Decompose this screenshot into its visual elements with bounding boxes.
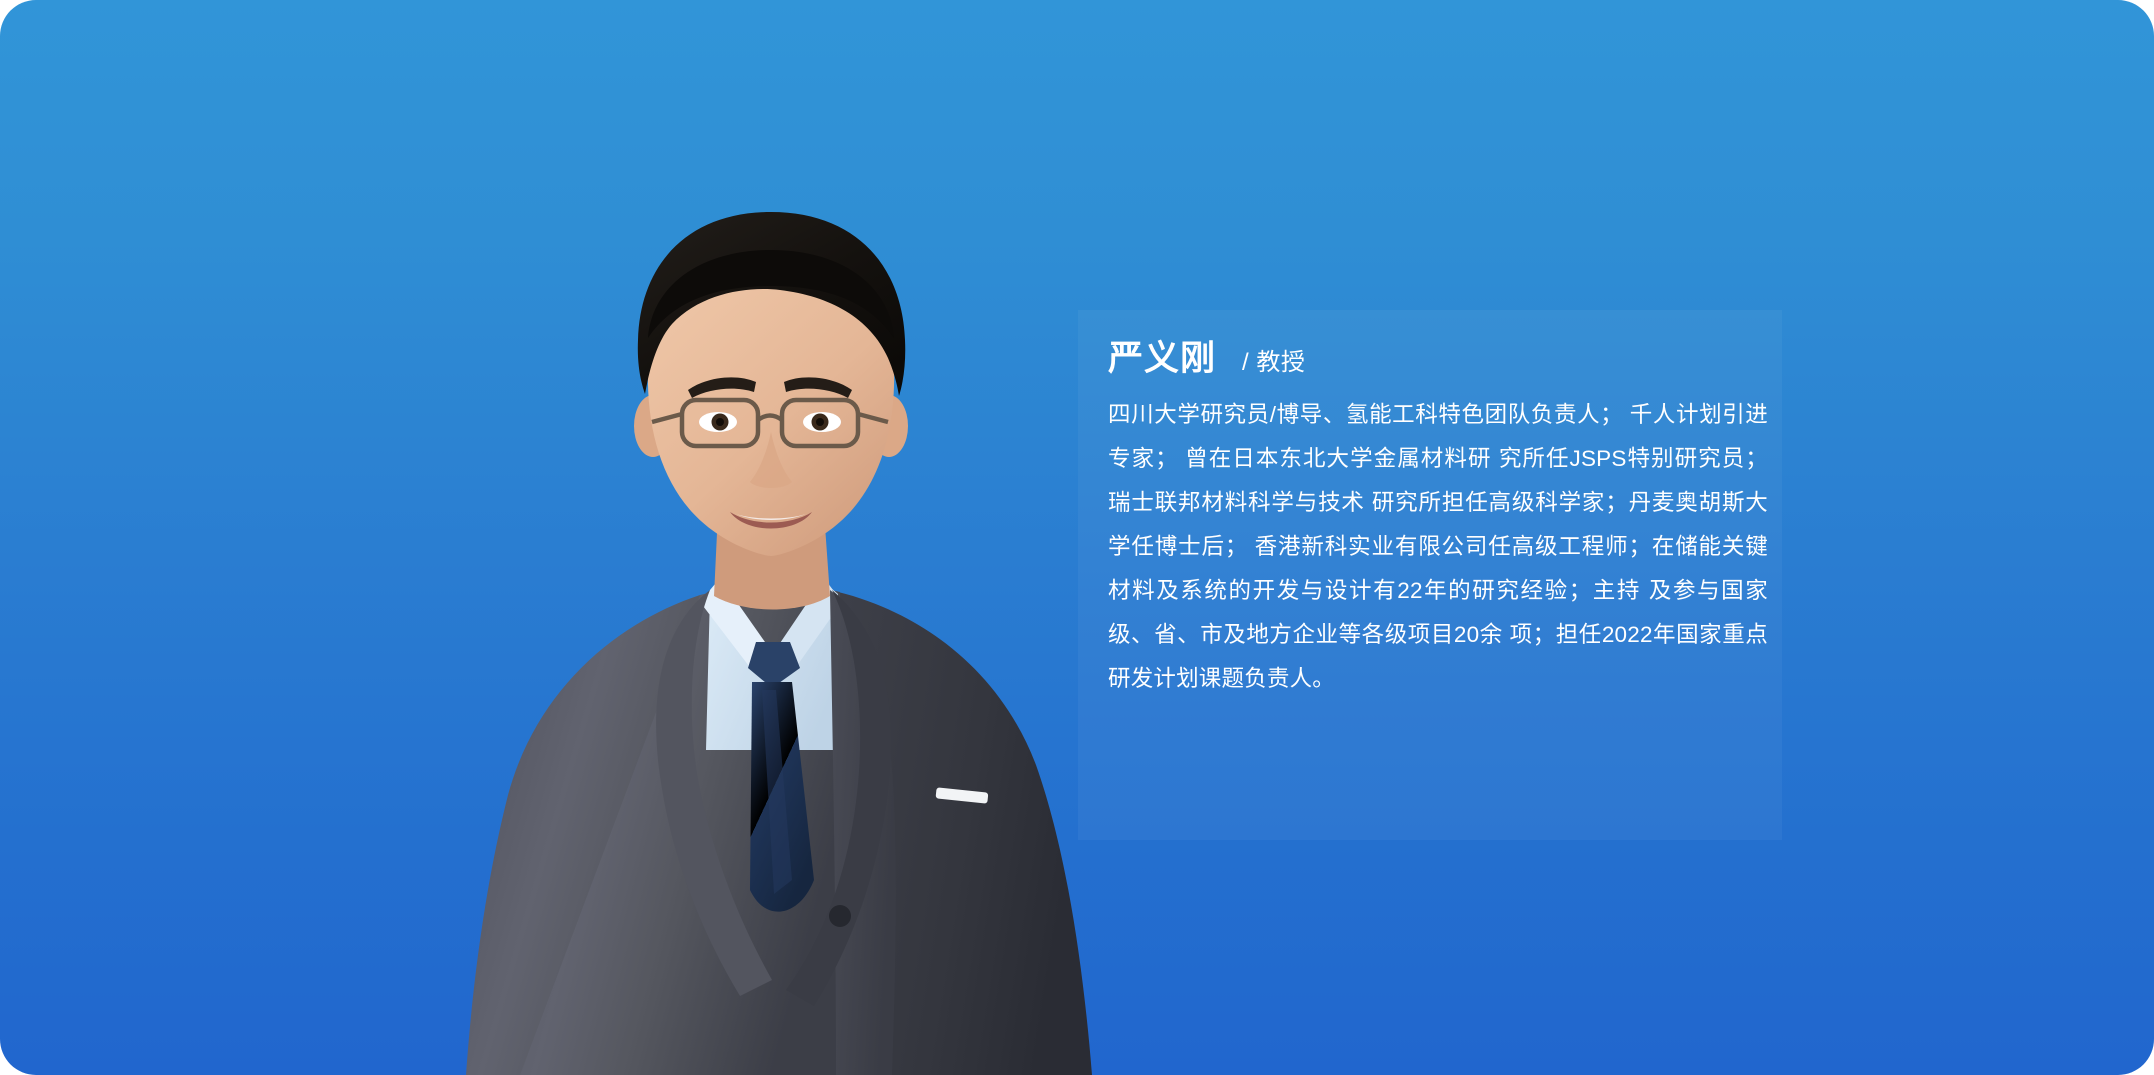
portrait-photo bbox=[400, 190, 1120, 1075]
suit-button bbox=[829, 905, 851, 927]
person-name: 严义刚 bbox=[1108, 340, 1216, 379]
name-row: 严义刚 / 教授 bbox=[1108, 340, 1768, 379]
profile-card: 严义刚 / 教授 四川大学研究员/博导、氢能工科特色团队负责人； 千人计划引进专… bbox=[0, 0, 2154, 1075]
person-title: / 教授 bbox=[1242, 342, 1305, 377]
person-bio: 四川大学研究员/博导、氢能工科特色团队负责人； 千人计划引进专家； 曾在日本东北… bbox=[1108, 393, 1768, 701]
head bbox=[634, 212, 908, 556]
profile-text-block: 严义刚 / 教授 四川大学研究员/博导、氢能工科特色团队负责人； 千人计划引进专… bbox=[1108, 340, 1768, 701]
